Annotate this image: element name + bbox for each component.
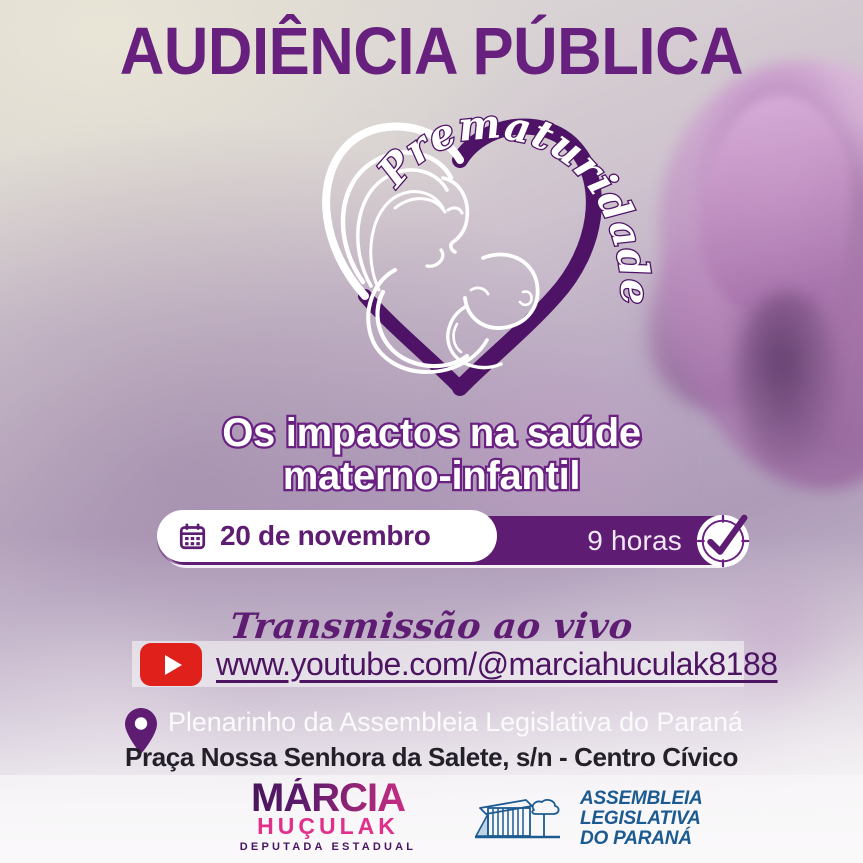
assembly-logo: ASSEMBLEIA LEGISLATIVA DO PARANÁ	[472, 789, 703, 849]
youtube-link-row[interactable]: www.youtube.com/@marciahuculak8188	[140, 643, 778, 686]
assembly-line-3: DO PARANÁ	[580, 829, 703, 849]
baby-arm	[454, 324, 461, 352]
deputy-role: DEPUTADA ESTADUAL	[228, 842, 428, 853]
subtitle-line-2: materno-infantil	[0, 455, 863, 498]
mother-hair-inner	[371, 192, 443, 290]
clock-check-icon	[694, 512, 752, 570]
poster-canvas: AUDIÊNCIA PÚBLICA	[0, 0, 863, 863]
assembly-line-1: ASSEMBLEIA	[580, 789, 703, 809]
baby-eye	[471, 288, 488, 294]
event-date: 20 de novembro	[220, 520, 431, 552]
deputy-last-name: HUÇULAK	[228, 815, 428, 838]
assembly-line-2: LEGISLATIVA	[580, 809, 703, 829]
event-subtitle: Os impactos na saúde materno-infantil	[0, 412, 863, 498]
deputy-first-name: MÁRCIA	[228, 778, 428, 818]
baby-ear	[520, 292, 532, 305]
deputy-logo: MÁRCIA HUÇULAK DEPUTADA ESTADUAL	[228, 778, 428, 853]
assembly-building-icon	[472, 792, 568, 846]
page-title: AUDIÊNCIA PÚBLICA	[35, 18, 829, 85]
mother-chin-neck	[427, 250, 443, 266]
venue-address: Praça Nossa Senhora da Salete, s/n - Cen…	[0, 742, 863, 773]
prematuridade-script-text: Prematuridade	[368, 100, 659, 306]
event-time: 9 horas	[587, 525, 682, 557]
prematuridade-logo: Prematuridade	[245, 100, 675, 420]
schedule-bar: 20 de novembro 9 horas	[162, 516, 744, 565]
play-triangle-icon	[165, 655, 182, 675]
venue-name: Plenarinho da Assembleia Legislativa do …	[168, 707, 743, 738]
mother-eye	[448, 208, 462, 213]
youtube-url[interactable]: www.youtube.com/@marciahuculak8188	[216, 646, 778, 683]
assembly-name: ASSEMBLEIA LEGISLATIVA DO PARANÁ	[580, 789, 703, 849]
date-pill[interactable]: 20 de novembro	[157, 510, 497, 562]
subtitle-line-1: Os impactos na saúde	[0, 412, 863, 455]
footer-strip	[0, 775, 863, 863]
youtube-icon[interactable]	[140, 643, 202, 686]
calendar-icon	[179, 523, 206, 550]
